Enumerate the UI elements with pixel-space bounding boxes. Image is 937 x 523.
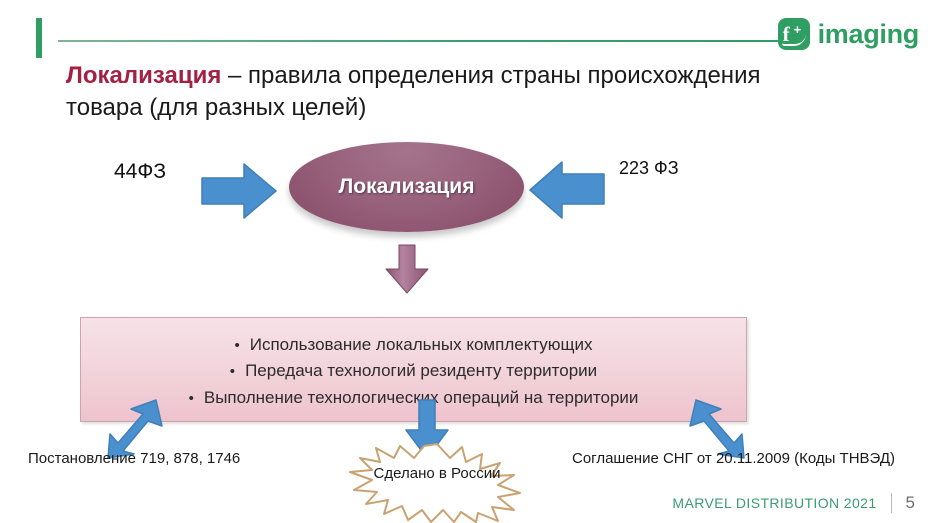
footer-divider — [891, 493, 892, 513]
list-item-label: Использование локальных комплектующих — [250, 335, 593, 354]
list-item: •Передача технологий резиденту территори… — [81, 358, 746, 384]
footer-brand: MARVEL DISTRIBUTION 2021 — [672, 495, 876, 511]
header-rule — [58, 40, 800, 42]
logo-wordmark: imaging — [818, 19, 919, 50]
caption-right: Соглашение СНГ от 20.11.2009 (Коды ТНВЭД… — [572, 450, 895, 467]
header-accent-bar — [36, 18, 42, 58]
arrow-left-icon — [528, 160, 606, 222]
f-plus-imaging-icon: f + — [778, 18, 810, 50]
page-title: Локализация – правила определения страны… — [66, 60, 826, 125]
caption-left: Постановление 719, 878, 1746 — [28, 450, 240, 467]
bullet-marker-icon: • — [189, 387, 194, 410]
bullet-marker-icon: • — [234, 334, 239, 357]
localization-ellipse-label: Локализация — [339, 175, 475, 199]
starburst-label: Сделано в России — [328, 465, 546, 482]
law-label-right: 223 ФЗ — [619, 158, 679, 179]
localization-ellipse: Локализация — [289, 142, 524, 232]
brand-logo: f + imaging — [778, 18, 919, 50]
arrow-down-icon — [384, 243, 430, 295]
page-title-accent: Локализация — [66, 62, 221, 89]
bullet-marker-icon: • — [230, 360, 235, 383]
slide-footer: MARVEL DISTRIBUTION 2021 5 — [672, 493, 915, 513]
law-label-left: 44ФЗ — [114, 160, 166, 184]
slide-canvas: f + imaging Локализация – правила опреде… — [0, 0, 937, 523]
starburst-shape — [328, 442, 546, 523]
logo-swoosh-icon — [782, 34, 806, 46]
slide-number: 5 — [906, 493, 915, 513]
list-item: •Использование локальных комплектующих — [81, 332, 746, 358]
arrow-right-icon — [200, 162, 278, 220]
list-item-label: Передача технологий резиденту территории — [245, 361, 597, 380]
